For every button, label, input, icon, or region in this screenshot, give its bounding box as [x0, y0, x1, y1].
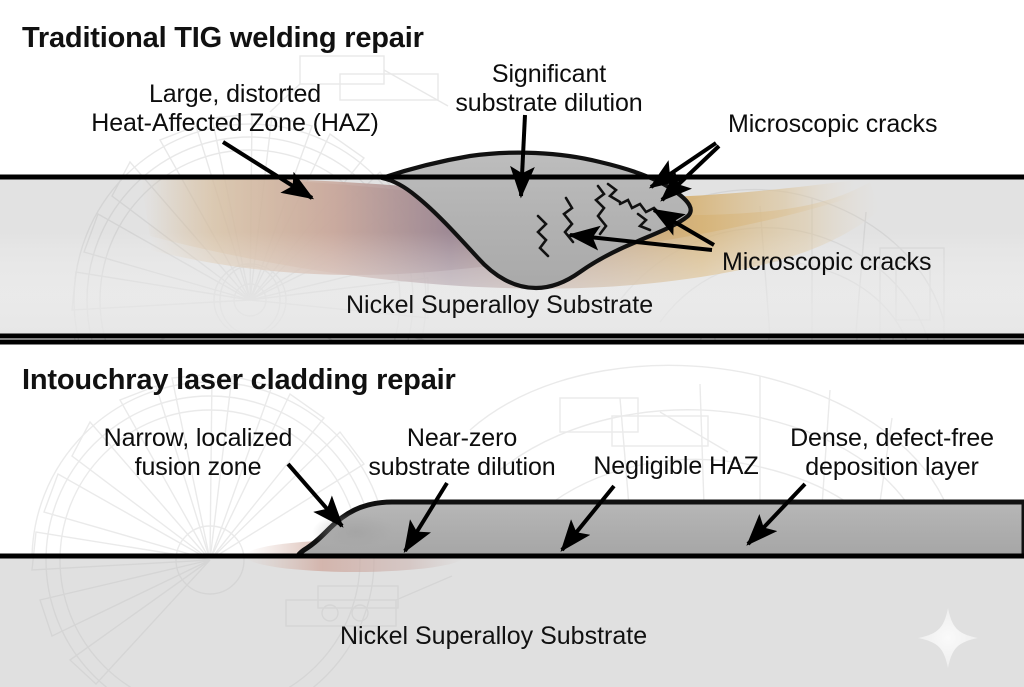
tig-section-heading: Traditional TIG welding repair: [22, 22, 424, 55]
cracks-label-upper: Microscopic cracks: [728, 110, 978, 139]
deposition-layer-label: Dense, defect-free deposition layer: [778, 424, 1006, 482]
haz-label: Large, distorted Heat-Affected Zone (HAZ…: [40, 80, 430, 138]
negligible-haz-label: Negligible HAZ: [586, 452, 766, 481]
dilution-label: Significant substrate dilution: [434, 60, 664, 118]
fusion-zone-label: Narrow, localized fusion zone: [82, 424, 314, 482]
tig-substrate-label: Nickel Superalloy Substrate: [346, 291, 653, 320]
cracks-label-lower: Microscopic cracks: [722, 248, 972, 277]
near-zero-dilution-label: Near-zero substrate dilution: [352, 424, 572, 482]
diagram-root: Traditional TIG welding repair Large, di…: [0, 0, 1024, 687]
laser-substrate-label: Nickel Superalloy Substrate: [340, 622, 647, 651]
laser-section-heading: Intouchray laser cladding repair: [22, 364, 456, 397]
laser-fusion-zone: [312, 512, 400, 552]
